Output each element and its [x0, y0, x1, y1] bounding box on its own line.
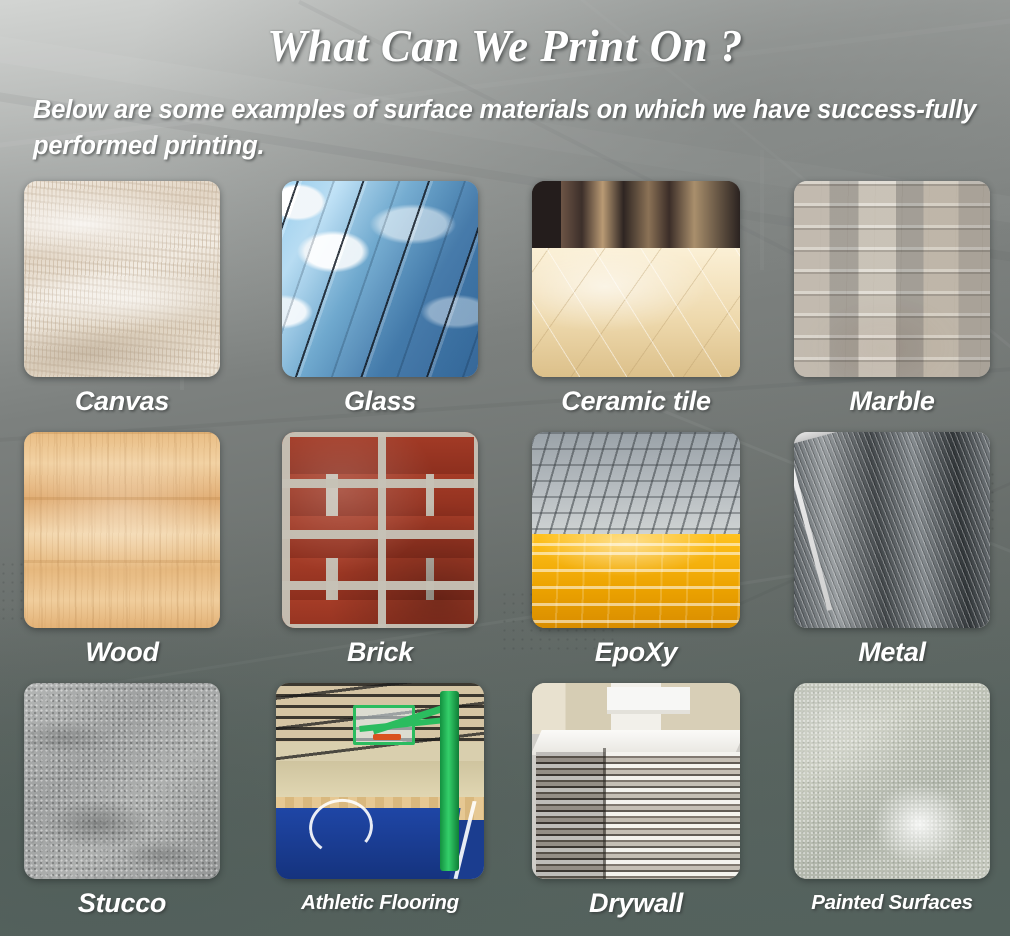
marble-texture-icon [794, 181, 990, 377]
material-cell-athletic-flooring[interactable]: Athletic Flooring [252, 683, 508, 918]
material-thumbnail-canvas[interactable] [24, 181, 220, 377]
material-cell-wood[interactable]: Wood [0, 432, 250, 667]
painted-surface-texture-icon [794, 683, 990, 879]
material-thumbnail-wood[interactable] [24, 432, 220, 628]
epoxy-texture-icon [532, 432, 740, 628]
material-row: Canvas Glass Ceramic tile Marble [0, 181, 1010, 432]
material-cell-painted-surfaces[interactable]: Painted Surfaces [764, 683, 1010, 918]
material-label-metal: Metal [764, 637, 1010, 667]
material-thumbnail-marble[interactable] [794, 181, 990, 377]
metal-sheet-shape [794, 432, 990, 628]
material-cell-drywall[interactable]: Drywall [508, 683, 764, 918]
material-label-brick: Brick [252, 637, 508, 667]
metal-sheet-edge [794, 450, 832, 610]
ceramic-tile-texture-icon [532, 181, 740, 377]
stucco-texture-icon [24, 683, 220, 879]
material-label-glass: Glass [252, 386, 508, 416]
material-label-canvas: Canvas [0, 386, 250, 416]
material-label-stucco: Stucco [0, 888, 250, 918]
brick-joint-row-2 [282, 474, 478, 516]
material-row: Stucco [0, 683, 1010, 934]
material-thumbnail-epoxy[interactable] [532, 432, 740, 628]
poster-root: What Can We Print On ? Below are some ex… [0, 0, 1010, 936]
drywall-stack-corner [603, 748, 606, 879]
athletic-flooring-texture-icon [276, 683, 484, 879]
material-thumbnail-athletic-flooring[interactable] [276, 683, 484, 879]
material-cell-stucco[interactable]: Stucco [0, 683, 250, 918]
material-label-drywall: Drywall [508, 888, 764, 918]
brick-joint-row-4 [282, 558, 478, 600]
wood-texture-icon [24, 432, 220, 628]
basketball-hoop-icon [373, 734, 401, 740]
glass-texture-icon [282, 181, 478, 377]
hoop-pole [440, 691, 459, 871]
material-cell-canvas[interactable]: Canvas [0, 181, 250, 416]
material-thumbnail-brick[interactable] [282, 432, 478, 628]
material-thumbnail-painted-surfaces[interactable] [794, 683, 990, 879]
material-cell-brick[interactable]: Brick [252, 432, 508, 667]
material-grid: Canvas Glass Ceramic tile Marble [0, 181, 1010, 934]
drywall-sheet-stack [536, 752, 740, 879]
drywall-texture-icon [532, 683, 740, 879]
brick-shading [282, 432, 478, 628]
page-subtitle: Below are some examples of surface mater… [33, 92, 985, 164]
material-thumbnail-metal[interactable] [794, 432, 990, 628]
material-thumbnail-drywall[interactable] [532, 683, 740, 879]
material-thumbnail-ceramic-tile[interactable] [532, 181, 740, 377]
material-row: Wood Brick EpoXy [0, 432, 1010, 683]
drywall-window [607, 687, 690, 714]
material-cell-glass[interactable]: Glass [252, 181, 508, 416]
material-label-athletic-flooring: Athletic Flooring [252, 888, 508, 918]
material-label-ceramic-tile: Ceramic tile [508, 386, 764, 416]
material-thumbnail-glass[interactable] [282, 181, 478, 377]
material-cell-epoxy[interactable]: EpoXy [508, 432, 764, 667]
brick-texture-icon [282, 432, 478, 628]
page-title: What Can We Print On ? [0, 23, 1010, 70]
material-label-painted-surfaces: Painted Surfaces [764, 888, 1010, 918]
material-label-wood: Wood [0, 637, 250, 667]
canvas-texture-icon [24, 181, 220, 377]
material-label-marble: Marble [764, 386, 1010, 416]
material-thumbnail-stucco[interactable] [24, 683, 220, 879]
material-cell-metal[interactable]: Metal [764, 432, 1010, 667]
material-cell-marble[interactable]: Marble [764, 181, 1010, 416]
material-cell-ceramic-tile[interactable]: Ceramic tile [508, 181, 764, 416]
material-label-epoxy: EpoXy [508, 637, 764, 667]
metal-texture-icon [794, 432, 990, 628]
